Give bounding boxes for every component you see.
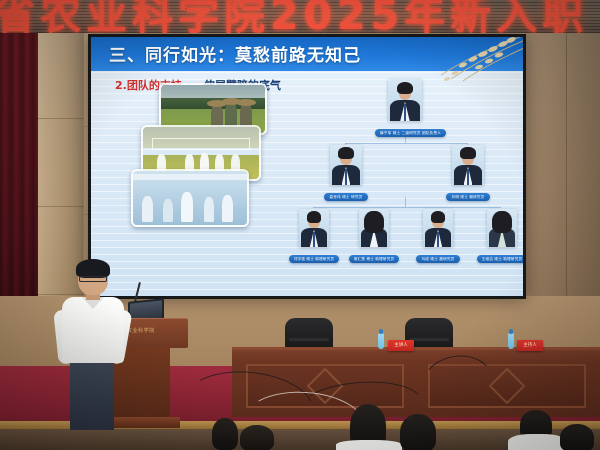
- org-node-member: 刘明 硕士 副研究员: [437, 145, 499, 203]
- audience-shoulders: [336, 440, 402, 450]
- org-connector: [313, 207, 501, 208]
- photo-lab-ceiling: [133, 174, 247, 179]
- necktie: [313, 232, 315, 247]
- eyeglasses-icon: [433, 219, 444, 222]
- necktie: [467, 169, 470, 185]
- audience-head: [560, 424, 594, 450]
- photo-person: [181, 192, 193, 222]
- speaker-trousers: [70, 360, 114, 430]
- hair: [307, 211, 321, 222]
- presentation-slide: 三、同行如光：莫愁前路无知己 2.团队的支持——伸展臂膀的底气: [91, 37, 523, 296]
- pillar-seam: [38, 118, 84, 119]
- photo-greenhouse-frame: [152, 138, 249, 149]
- name-placard: 主持人: [517, 340, 543, 351]
- table-diamond-ornament: [489, 368, 526, 405]
- pillar-seam: [38, 206, 84, 207]
- org-node-member: 马成 硕士 副研究员: [407, 209, 469, 265]
- org-node-leader: 薛宁军 硕士 二级研究员 团队负责人: [375, 79, 435, 139]
- slide-subtitle-number: 2.: [115, 79, 127, 92]
- led-banner: 省农业科学院2025年新入职: [0, 0, 600, 33]
- headshot: [299, 209, 329, 247]
- org-node-label: 高世伟 硕士 研究员: [324, 193, 367, 201]
- projection-screen: 三、同行如光：莫愁前路无知己 2.团队的支持——伸展臂膀的底气: [88, 34, 526, 299]
- org-node-label: 常汇慧 博士 助理研究员: [349, 255, 400, 263]
- conference-photo-scene: 省农业科学院2025年新入职 三、同行如光：莫愁前路无知己 2.团队的支持——伸…: [0, 0, 600, 450]
- headshot: [487, 209, 517, 247]
- water-bottle: [378, 333, 384, 349]
- necktie: [345, 169, 348, 185]
- photo-person: [222, 195, 233, 222]
- led-banner-text: 省农业科学院2025年新入职: [0, 0, 588, 33]
- hair: [397, 82, 413, 95]
- hair: [364, 211, 383, 232]
- org-connector: [345, 143, 467, 144]
- water-bottle: [508, 333, 514, 349]
- org-node-label: 王维洁 硕士 助理研究员: [477, 255, 523, 263]
- photo-person: [163, 199, 173, 222]
- speaker-person: [56, 262, 134, 430]
- headshot: [423, 209, 453, 247]
- team-org-chart: 薛宁军 硕士 二级研究员 团队负责人 高世伟 硕士 研究员: [287, 79, 523, 251]
- org-node-label: 刘明 硕士 副研究员: [446, 193, 489, 201]
- necktie: [404, 104, 407, 121]
- photo-person: [142, 196, 153, 222]
- org-node-member: 王维洁 硕士 助理研究员: [471, 209, 523, 265]
- audience-head: [400, 414, 436, 450]
- org-node-label: 马成 硕士 副研究员: [416, 255, 459, 263]
- name-placard: 主讲人: [388, 340, 414, 351]
- org-connector: [405, 197, 406, 207]
- org-node-label: 薛宁军 硕士 二级研究员 团队负责人: [375, 129, 446, 137]
- hair: [492, 211, 511, 232]
- photo-person: [204, 197, 214, 222]
- headshot: [359, 209, 389, 247]
- hair: [460, 147, 475, 159]
- photo-collage: [131, 83, 291, 243]
- necktie: [437, 232, 439, 247]
- headshot: [388, 79, 422, 121]
- audience-shoulders: [508, 434, 566, 450]
- eyeglasses-icon: [340, 156, 352, 159]
- org-node-member: 刘宇强 硕士 助理研究员: [283, 209, 345, 265]
- headshot: [330, 145, 362, 185]
- audience-head: [240, 425, 274, 450]
- audience-head: [212, 418, 238, 450]
- headshot: [452, 145, 484, 185]
- slide-title: 三、同行如光：莫愁前路无知己: [109, 41, 361, 66]
- org-node-label: 刘宇强 硕士 助理研究员: [289, 255, 340, 263]
- org-node-member: 常汇慧 博士 助理研究员: [343, 209, 405, 265]
- eyeglasses-icon: [79, 276, 107, 282]
- laboratory-photo: [131, 169, 249, 227]
- org-node-member: 高世伟 硕士 研究员: [315, 145, 377, 203]
